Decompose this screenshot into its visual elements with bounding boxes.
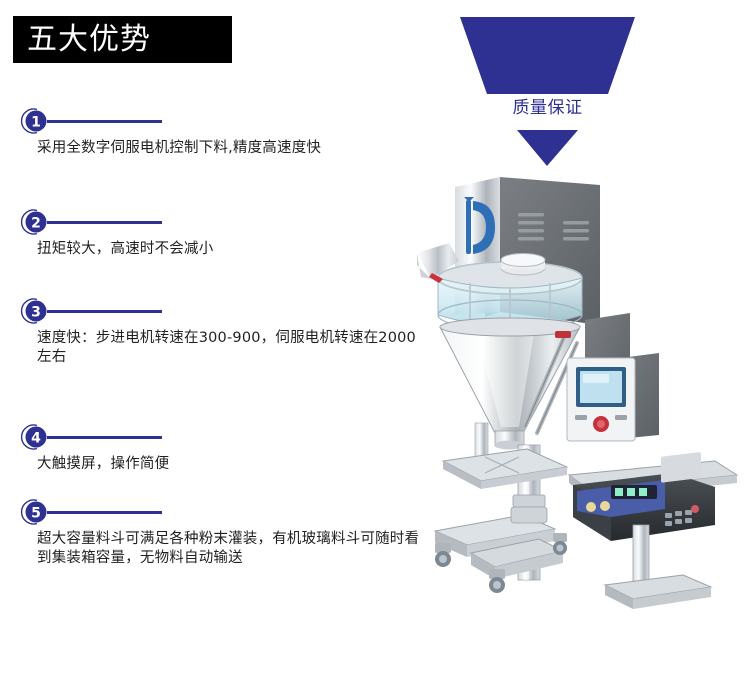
advantage-header-1: 1 [0, 108, 430, 134]
advantage-item-2: 2 扭矩较大，高速时不会减小 [0, 209, 430, 259]
product-photo-filling-machine [415, 165, 750, 620]
quality-funnel-icon [455, 14, 640, 169]
advantage-item-4: 4 大触摸屏，操作简便 [0, 424, 430, 474]
svg-text:2: 2 [31, 215, 41, 231]
number-badge-4-icon: 4 [20, 424, 50, 450]
advantage-header-2: 2 [0, 209, 430, 235]
number-badge-2-icon: 2 [20, 209, 50, 235]
advantage-text-4: 大触摸屏，操作简便 [37, 455, 422, 474]
svg-text:3: 3 [31, 304, 41, 320]
advantage-header-3: 3 [0, 298, 430, 324]
advantage-item-1: 1 采用全数字伺服电机控制下料,精度高速度快 [0, 108, 430, 158]
number-badge-3-icon: 3 [20, 298, 50, 324]
advantages-infographic: 五大优势 1 采用全数字伺服电机控制下料,精度高速度快 2 [0, 0, 750, 677]
page-title: 五大优势 [27, 25, 151, 55]
page-title-banner: 五大优势 [13, 16, 232, 63]
advantage-rule-3 [47, 310, 162, 313]
advantage-rule-1 [47, 120, 162, 123]
svg-text:4: 4 [31, 430, 41, 446]
svg-text:1: 1 [31, 114, 41, 130]
advantage-text-2: 扭矩较大，高速时不会减小 [37, 240, 422, 259]
advantage-item-3: 3 速度快：步进电机转速在300-900，伺服电机转速在2000左右 [0, 298, 430, 367]
advantage-text-3: 速度快：步进电机转速在300-900，伺服电机转速在2000左右 [37, 329, 422, 367]
svg-text:5: 5 [31, 505, 41, 521]
number-badge-5-icon: 5 [20, 499, 50, 525]
advantage-rule-4 [47, 436, 162, 439]
advantage-text-1: 采用全数字伺服电机控制下料,精度高速度快 [37, 139, 422, 158]
advantage-rule-5 [47, 511, 162, 514]
advantage-header-5: 5 [0, 499, 430, 525]
advantage-item-5: 5 超大容量料斗可满足各种粉末灌装，有机玻璃料斗可随时看到集装箱容量，无物料自动… [0, 499, 430, 568]
number-badge-1-icon: 1 [20, 108, 50, 134]
advantage-text-5: 超大容量料斗可满足各种粉末灌装，有机玻璃料斗可随时看到集装箱容量，无物料自动输送 [37, 530, 422, 568]
advantage-rule-2 [47, 221, 162, 224]
quality-funnel-label: 质量保证 [455, 97, 640, 119]
advantage-header-4: 4 [0, 424, 430, 450]
